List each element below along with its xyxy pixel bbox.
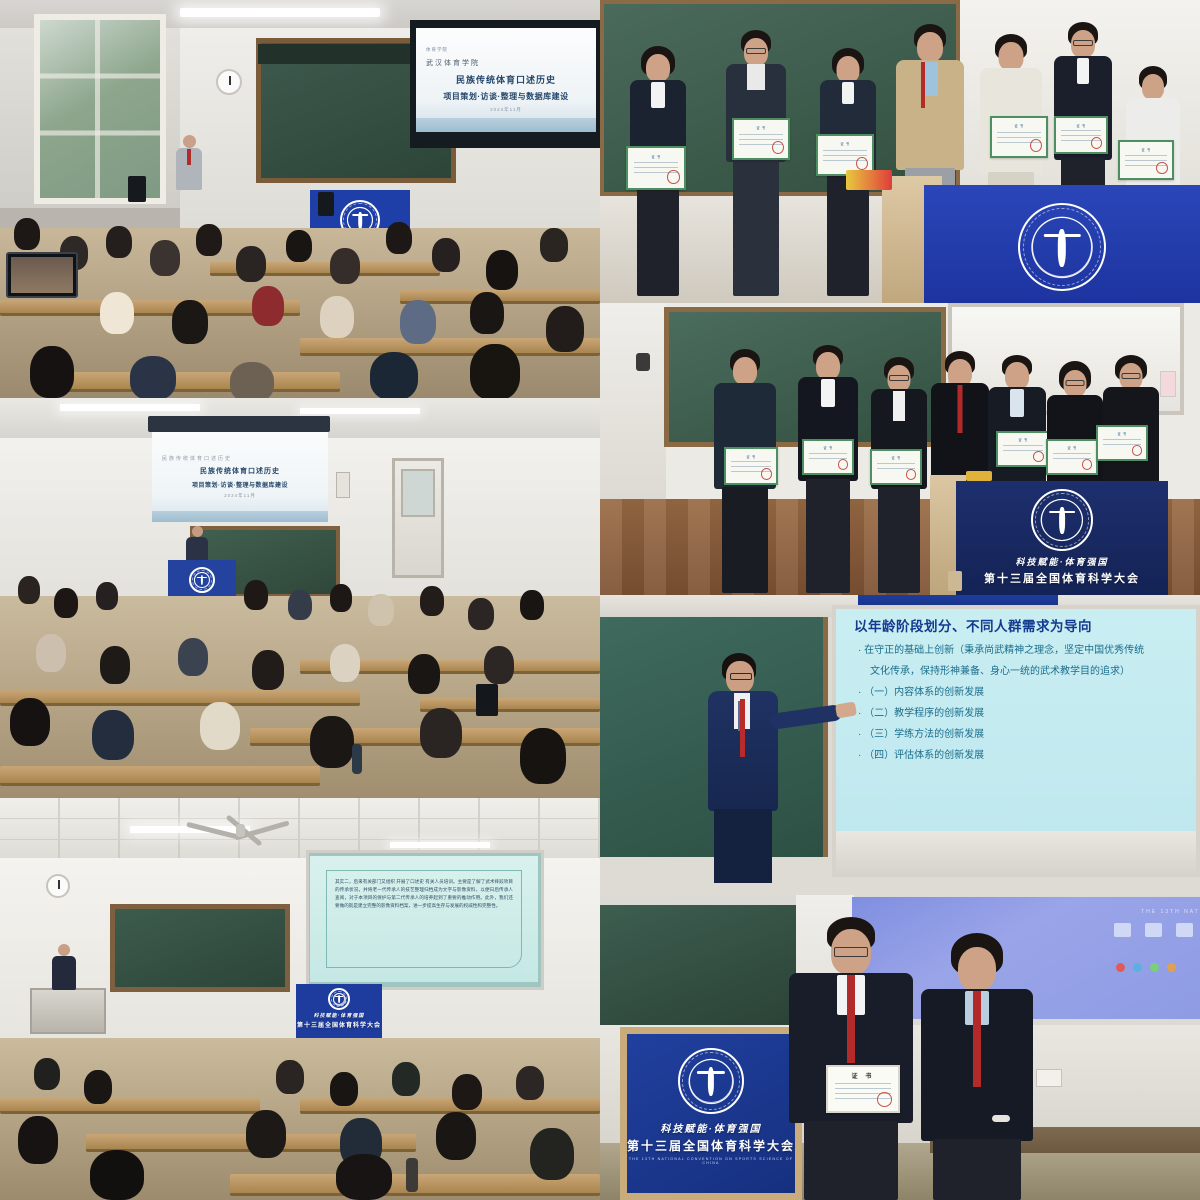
person-legs — [878, 487, 920, 593]
person-head — [816, 352, 840, 380]
certificate-title: 证 书 — [998, 437, 1048, 442]
audience-head — [196, 224, 222, 256]
panel-lecture-hall-wide-rear: 体育学院 武汉体育学院 民族传统体育口述历史 项目策划·访谈·整理与数据库建设 … — [0, 0, 600, 398]
audience-head — [486, 250, 518, 290]
projected-slide: 以年龄阶段划分、不同人群需求为导向 · 在守正的基础上创新（秉承尚武精神之理念，… — [836, 609, 1196, 831]
audience-head-light — [100, 292, 134, 334]
certificate: 证 书 — [732, 118, 790, 160]
audience-head — [400, 300, 436, 344]
slide-bottom-bar — [416, 118, 596, 132]
award-recipient: 证 书 — [628, 46, 688, 296]
podium-slogan: 科技赋能·体育强国 — [956, 555, 1168, 568]
podium-slogan: 科技赋能·体育强国 — [296, 1012, 382, 1019]
audience-head — [386, 222, 412, 254]
audience-head — [520, 590, 544, 620]
slide-bullet: · （一）内容体系的创新发展 — [854, 685, 1188, 700]
audience-head — [18, 1116, 58, 1164]
audience-head — [34, 1058, 60, 1090]
certificate: 证 书 — [1118, 140, 1174, 180]
desktop-icon-row — [1114, 923, 1200, 953]
eyeglasses-icon — [730, 673, 752, 680]
audience-head — [252, 650, 284, 690]
logo-figure — [1058, 229, 1066, 268]
podium-conference-name-en: THE 13TH NATIONAL CONVENTION ON SPORTS S… — [627, 1157, 795, 1165]
audience-head — [100, 646, 130, 684]
marker-box — [966, 471, 992, 481]
audience-head — [18, 576, 40, 604]
eyeglasses-icon — [1122, 373, 1141, 379]
person-legs — [806, 479, 850, 593]
audience-head — [10, 698, 50, 746]
certificate-seal-icon — [1132, 445, 1143, 456]
audience-head — [420, 586, 444, 616]
speaker-head — [58, 944, 70, 956]
wall-control-panel — [336, 472, 350, 498]
person-shirt — [821, 379, 835, 407]
speaker-scarf — [187, 149, 191, 165]
audience-head-light — [200, 702, 240, 750]
projected-slide: 体育学院 武汉体育学院 民族传统体育口述历史 项目策划·访谈·整理与数据库建设 … — [416, 28, 596, 132]
slide-bullet: · （四）评估体系的创新发展 — [854, 748, 1188, 763]
society-logo-icon — [328, 988, 350, 1010]
society-logo-icon — [1018, 203, 1106, 291]
slide-body-text: 其实二，后来有关部门又组织 开展了口述史 有关人员培训。主要是了解了武术摔跤项目… — [326, 870, 522, 968]
audience-head — [30, 346, 74, 398]
presenter-male: 证 书 — [786, 917, 916, 1200]
projected-slide: 民族传统体育口述历史 民族传统体育口述历史 项目策划·访谈·整理与数据库建设 2… — [152, 432, 328, 522]
slide-brand: 体育学院 — [426, 47, 448, 53]
eyeglasses-icon — [1066, 380, 1085, 386]
person-head — [958, 947, 996, 991]
classroom-door — [392, 458, 444, 578]
audience-head — [288, 590, 312, 620]
marker-box — [846, 170, 892, 190]
logo-figure — [708, 1067, 714, 1096]
audience-head — [276, 1060, 304, 1094]
audience-head — [330, 584, 352, 612]
student-desk — [0, 690, 360, 706]
audience-head — [178, 638, 208, 676]
certificate: 证 书 — [990, 116, 1048, 158]
student-desk — [60, 372, 340, 392]
person-lanyard — [958, 385, 963, 433]
award-recipient: 证 书 — [796, 345, 860, 593]
ceiling-light — [180, 8, 380, 17]
person-shirt — [651, 82, 665, 108]
audience-head — [540, 228, 568, 262]
certificate-title: 证 书 — [1048, 445, 1096, 450]
eyeglasses-icon — [834, 947, 868, 957]
certificate-seal-icon — [838, 459, 849, 470]
certificate-seal-icon — [877, 1092, 892, 1107]
audience-head — [230, 362, 274, 398]
speaker-head — [183, 135, 196, 148]
audience-head — [150, 240, 180, 276]
person-shirt — [1077, 58, 1089, 84]
certificate: 证 书 — [802, 439, 854, 475]
eyeglasses-icon — [1073, 40, 1093, 46]
certificate-seal-icon — [667, 170, 679, 184]
podium-conference-name: 第十三届全国体育科学大会 — [296, 1020, 382, 1029]
certificate-seal-icon — [856, 157, 868, 170]
audience-head — [452, 1074, 482, 1110]
podium-slogan: 科技赋能·体育强国 — [627, 1120, 795, 1135]
audience-head — [432, 238, 460, 272]
speaker-body — [52, 956, 76, 990]
person-head — [1142, 74, 1164, 100]
podium: 科技赋能·体育强国 第十三届全国体育科学大会 中国体育科学学会 — [956, 481, 1168, 595]
smartphone-recording — [128, 176, 146, 202]
person-legs — [733, 160, 779, 296]
certificate-title: 证 书 — [628, 154, 684, 159]
certificate-title: 证 书 — [1120, 147, 1172, 152]
certificate-title: 证 书 — [804, 445, 852, 450]
person-head — [999, 42, 1024, 71]
audience-head — [392, 1062, 420, 1096]
person-head — [917, 32, 943, 62]
slide-bullet: · （二）教学程序的创新发展 — [854, 706, 1188, 721]
blackboard — [110, 904, 290, 992]
audience-head — [470, 292, 504, 334]
slide-subtitle: 项目策划·访谈·整理与数据库建设 — [443, 91, 568, 102]
slide-title: 以年龄阶段划分、不同人群需求为导向 — [854, 615, 1188, 635]
certificate-title: 证 书 — [1056, 123, 1106, 128]
presenting-speaker — [708, 653, 778, 883]
audience-head — [546, 306, 584, 352]
audience-head — [516, 1066, 544, 1100]
person-lanyard — [893, 391, 905, 421]
audience-head — [236, 246, 266, 282]
logo-figure — [1059, 507, 1065, 534]
person-legs — [804, 1121, 898, 1200]
podium: 科技赋能·体育强国 第十三届全国体育科学大会 THE 13TH NATIONAL… — [620, 1027, 802, 1200]
slide-bullet: 文化传承，保持形神兼备、身心一统的武术教学目的追求） — [854, 664, 1188, 679]
blackboard — [600, 905, 796, 1025]
audience-head — [520, 728, 566, 784]
panel-presentation-wushu-teaching: 第十三届全国体育科学大会 以年龄阶段划分、不同人群需求为导向 · 在守正的基础上… — [600, 595, 1200, 895]
certificate-seal-icon — [1082, 459, 1093, 470]
panel-lecture-hall-mid: 民族传统体育口述历史 民族传统体育口述历史 项目策划·访谈·整理与数据库建设 2… — [0, 398, 600, 798]
slide-bullet: · （三）学练方法的创新发展 — [854, 727, 1188, 742]
certificate-seal-icon — [1033, 451, 1044, 462]
audience-head — [470, 344, 520, 398]
person-head — [646, 54, 670, 82]
taskbar-icon — [1116, 963, 1125, 972]
fan-hub — [236, 824, 245, 837]
slide-footer: 2024年11月 — [490, 107, 522, 113]
person-lanyard — [847, 975, 855, 1063]
slide-footer: 2024年11月 — [224, 493, 256, 499]
audience-head — [330, 1072, 358, 1106]
audience-head — [172, 300, 208, 344]
audience-head — [244, 580, 268, 610]
podium-conference-name: 第十三届全国体育科学大会 — [627, 1137, 795, 1154]
smartphone-recording — [318, 192, 334, 216]
person-legs — [933, 1139, 1021, 1200]
certificate: 证 书 — [996, 431, 1050, 467]
audience-head-light — [36, 634, 66, 672]
audience-head — [370, 352, 418, 398]
logo-figure — [338, 995, 340, 1003]
wristwatch-icon — [992, 1115, 1010, 1122]
audience-head — [252, 286, 284, 326]
certificate: 证 书 — [870, 449, 922, 485]
eyeglasses-icon — [889, 375, 909, 381]
screen-lower-frame — [836, 831, 1196, 877]
speaker-head — [192, 526, 203, 537]
eyeglasses-icon — [746, 48, 766, 54]
certificate-title: 证 书 — [726, 454, 776, 459]
podium: 中国体育科学学会 — [924, 185, 1200, 303]
audience-head — [54, 588, 78, 618]
award-recipient: 证 书 — [712, 349, 778, 593]
projected-slide: 其实二，后来有关部门又组织 开展了口述史 有关人员培训。主要是了解了武术摔跤项目… — [310, 856, 538, 982]
audience-head — [14, 218, 40, 250]
person-legs — [722, 487, 768, 593]
audience-head — [436, 1112, 476, 1160]
audience-head — [286, 230, 312, 262]
speaker-legs — [714, 809, 772, 883]
wall-notice — [1160, 371, 1176, 397]
smartphone-recording — [476, 684, 498, 716]
speaker-lanyard — [740, 699, 745, 757]
certificate: 证 书 — [626, 146, 686, 190]
certificate-title: 证 书 — [992, 123, 1046, 128]
audience-head-light — [330, 644, 360, 682]
certificate-seal-icon — [1091, 137, 1102, 149]
certificate-title: 证 书 — [872, 455, 920, 460]
person-head — [733, 357, 757, 385]
society-logo-icon — [1031, 489, 1093, 551]
certificate-seal-icon — [906, 469, 917, 480]
person-legs — [827, 172, 869, 296]
taskbar-icon — [1133, 963, 1142, 972]
audience-head — [420, 708, 462, 758]
ceiling-light — [300, 408, 420, 414]
person-lanyard — [973, 991, 981, 1087]
person-lanyard — [747, 64, 765, 90]
certificate-seal-icon — [1156, 162, 1167, 174]
lectern-table — [30, 988, 106, 1034]
ceiling-light — [390, 842, 490, 848]
student-desk — [0, 766, 320, 786]
desktop-icon — [1176, 923, 1193, 937]
audience-head — [408, 654, 440, 694]
audience-head — [530, 1128, 574, 1180]
audience-head — [92, 710, 134, 760]
society-logo-icon — [678, 1048, 744, 1114]
phone-screen-preview — [11, 257, 73, 293]
certificate-title: 证 书 — [828, 1071, 898, 1080]
panel-award-group-seven-front: 证 书 证 书 证 书 — [600, 0, 1200, 303]
person-lanyard — [921, 62, 925, 108]
classroom-window — [34, 14, 166, 204]
audience-head — [106, 226, 132, 258]
desktop-icon — [1145, 923, 1162, 937]
audience-head — [84, 1070, 112, 1104]
award-recipient: 证 书 — [724, 30, 788, 296]
society-logo-icon — [189, 567, 215, 593]
desktop-icon — [1114, 923, 1131, 937]
podium: 科技赋能·体育强国 第十三届全国体育科学大会 — [296, 984, 382, 1038]
photo-collage: 体育学院 武汉体育学院 民族传统体育口述历史 项目策划·访谈·整理与数据库建设 … — [0, 0, 1200, 1200]
certificate-title: 证 书 — [1098, 431, 1146, 436]
person-head — [837, 56, 860, 83]
person-shirt — [1010, 389, 1024, 417]
wall-clock-icon — [216, 69, 242, 95]
student-desk — [0, 1098, 260, 1114]
wall-outlet — [1036, 1069, 1062, 1087]
certificate: 证 书 — [1046, 439, 1098, 475]
podium — [168, 560, 236, 600]
slide-subtitle: 项目策划·访谈·整理与数据库建设 — [192, 480, 288, 489]
certificate: 证 书 — [1054, 116, 1108, 154]
certificate: 证 书 — [826, 1065, 900, 1113]
audience-head-light — [320, 296, 354, 338]
certificate-seal-icon — [772, 141, 784, 154]
slide-title: 民族传统体育口述历史 — [200, 466, 280, 476]
audience-head — [246, 1110, 286, 1158]
certificate-title: 证 书 — [818, 141, 872, 146]
person-head — [1005, 362, 1029, 390]
audience-head — [90, 1150, 144, 1200]
smartphone-recording — [6, 252, 78, 298]
audience-head — [330, 248, 360, 284]
certificate-seal-icon — [1030, 139, 1042, 152]
audience-head-light — [368, 594, 394, 626]
projector-banner-text: THE 13TH NATIONAL CONVENTION ON SPORTS S… — [1110, 909, 1200, 915]
taskbar — [1116, 963, 1200, 973]
projection-screen-housing — [148, 416, 330, 432]
slide-logo-text: 民族传统体育口述历史 — [162, 455, 232, 462]
side-wall — [600, 303, 666, 503]
slide-logo-text: 武汉体育学院 — [426, 58, 480, 68]
podium-conference-name: 第十三届全国体育科学大会 — [956, 570, 1168, 586]
standing-speaker — [176, 135, 202, 195]
certificate-seal-icon — [761, 468, 772, 480]
audience-head — [130, 356, 176, 398]
taskbar-icon — [1150, 963, 1159, 972]
audience-head — [96, 582, 118, 610]
slide-bottom-bar — [152, 511, 328, 522]
paper-cup — [948, 571, 962, 591]
slide-bullet: · 在守正的基础上创新（秉承尚武精神之理念，坚定中国优秀传统 — [854, 643, 1188, 658]
audience-head — [484, 646, 514, 684]
ceiling-light — [60, 404, 200, 411]
certificate: 证 书 — [1096, 425, 1148, 461]
thermos-bottle — [406, 1158, 418, 1192]
recipient-female — [918, 933, 1036, 1200]
ceiling-fan-icon — [200, 816, 280, 842]
audience-head — [468, 598, 494, 630]
panel-award-group-seven-second: 证 书 证 书 证 书 — [600, 303, 1200, 595]
certificate-title: 证 书 — [734, 125, 788, 130]
water-bottle — [352, 744, 362, 774]
audience-head — [336, 1154, 392, 1200]
taskbar-icon — [1167, 963, 1176, 972]
slide-title: 民族传统体育口述历史 — [456, 73, 556, 86]
award-recipient: 证 书 — [868, 357, 930, 593]
seated-speaker — [52, 944, 76, 992]
speaker-box-icon — [636, 353, 650, 371]
logo-figure — [358, 212, 362, 229]
person-shirt — [842, 82, 854, 104]
panel-certificate-presentation-two-people: THE 13TH NATIONAL CONVENTION ON SPORTS S… — [600, 895, 1200, 1200]
panel-lecture-hall-front: 其实二，后来有关部门又组织 开展了口述史 有关人员培训。主要是了解了武术摔跤项目… — [0, 798, 600, 1200]
wall-clock-icon — [46, 874, 70, 898]
certificate: 证 书 — [724, 447, 778, 485]
audience-head — [310, 716, 354, 768]
